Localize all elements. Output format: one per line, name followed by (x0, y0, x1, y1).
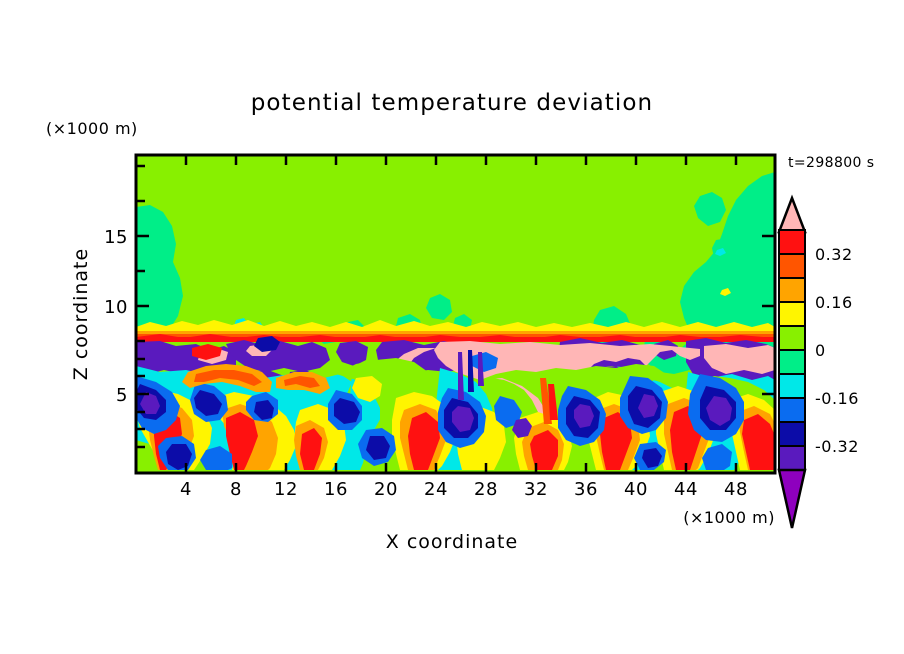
x-tick-label: 20 (374, 479, 398, 500)
contour-field (136, 155, 775, 473)
y-tick-label: 5 (116, 385, 128, 406)
x-tick-label: 4 (180, 479, 192, 500)
colorbar-bands (779, 230, 805, 470)
x-tick-label: 48 (724, 479, 748, 500)
colorbar-band (779, 350, 805, 374)
colorbar-tick-label: -0.16 (815, 389, 859, 408)
colorbar-tick-label: 0 (815, 341, 826, 360)
figure-canvas: potential temperature deviation (×1000 m… (0, 0, 904, 654)
x-tick-label: 28 (474, 479, 498, 500)
colorbar-tick-label: 0.32 (815, 245, 853, 264)
colorbar-band (779, 422, 805, 446)
x-tick-label: 40 (624, 479, 648, 500)
page-title: potential temperature deviation (251, 90, 654, 116)
inversion-orange (136, 331, 775, 334)
y-tick-label: 10 (104, 297, 128, 318)
colorbar-band (779, 374, 805, 398)
colorbar-tick-label: -0.32 (815, 437, 859, 456)
y-axis-unit-label: (×1000 m) (46, 119, 138, 138)
x-tick-label: 24 (424, 479, 448, 500)
colorbar-band (779, 254, 805, 278)
colorbar-band (779, 302, 805, 326)
x-tick-label: 12 (274, 479, 298, 500)
x-tick-label: 44 (674, 479, 698, 500)
timestamp-label: t=298800 s (788, 155, 874, 171)
colorbar-band (779, 398, 805, 422)
colorbar-band (779, 326, 805, 350)
x-axis-title: X coordinate (386, 531, 518, 553)
x-tick-label: 16 (324, 479, 348, 500)
colorbar-band (779, 230, 805, 254)
colorbar-band (779, 446, 805, 470)
x-tick-label: 32 (524, 479, 548, 500)
x-tick-label: 36 (574, 479, 598, 500)
x-tick-label: 8 (230, 479, 242, 500)
y-tick-label: 15 (104, 227, 128, 248)
colorbar-band (779, 278, 805, 302)
colorbar-tick-label: 0.16 (815, 293, 853, 312)
y-axis-title: Z coordinate (70, 248, 92, 380)
x-axis-unit-label: (×1000 m) (683, 508, 775, 527)
inversion-yellow (136, 327, 775, 331)
contour-plot-svg: potential temperature deviation (×1000 m… (0, 0, 904, 654)
